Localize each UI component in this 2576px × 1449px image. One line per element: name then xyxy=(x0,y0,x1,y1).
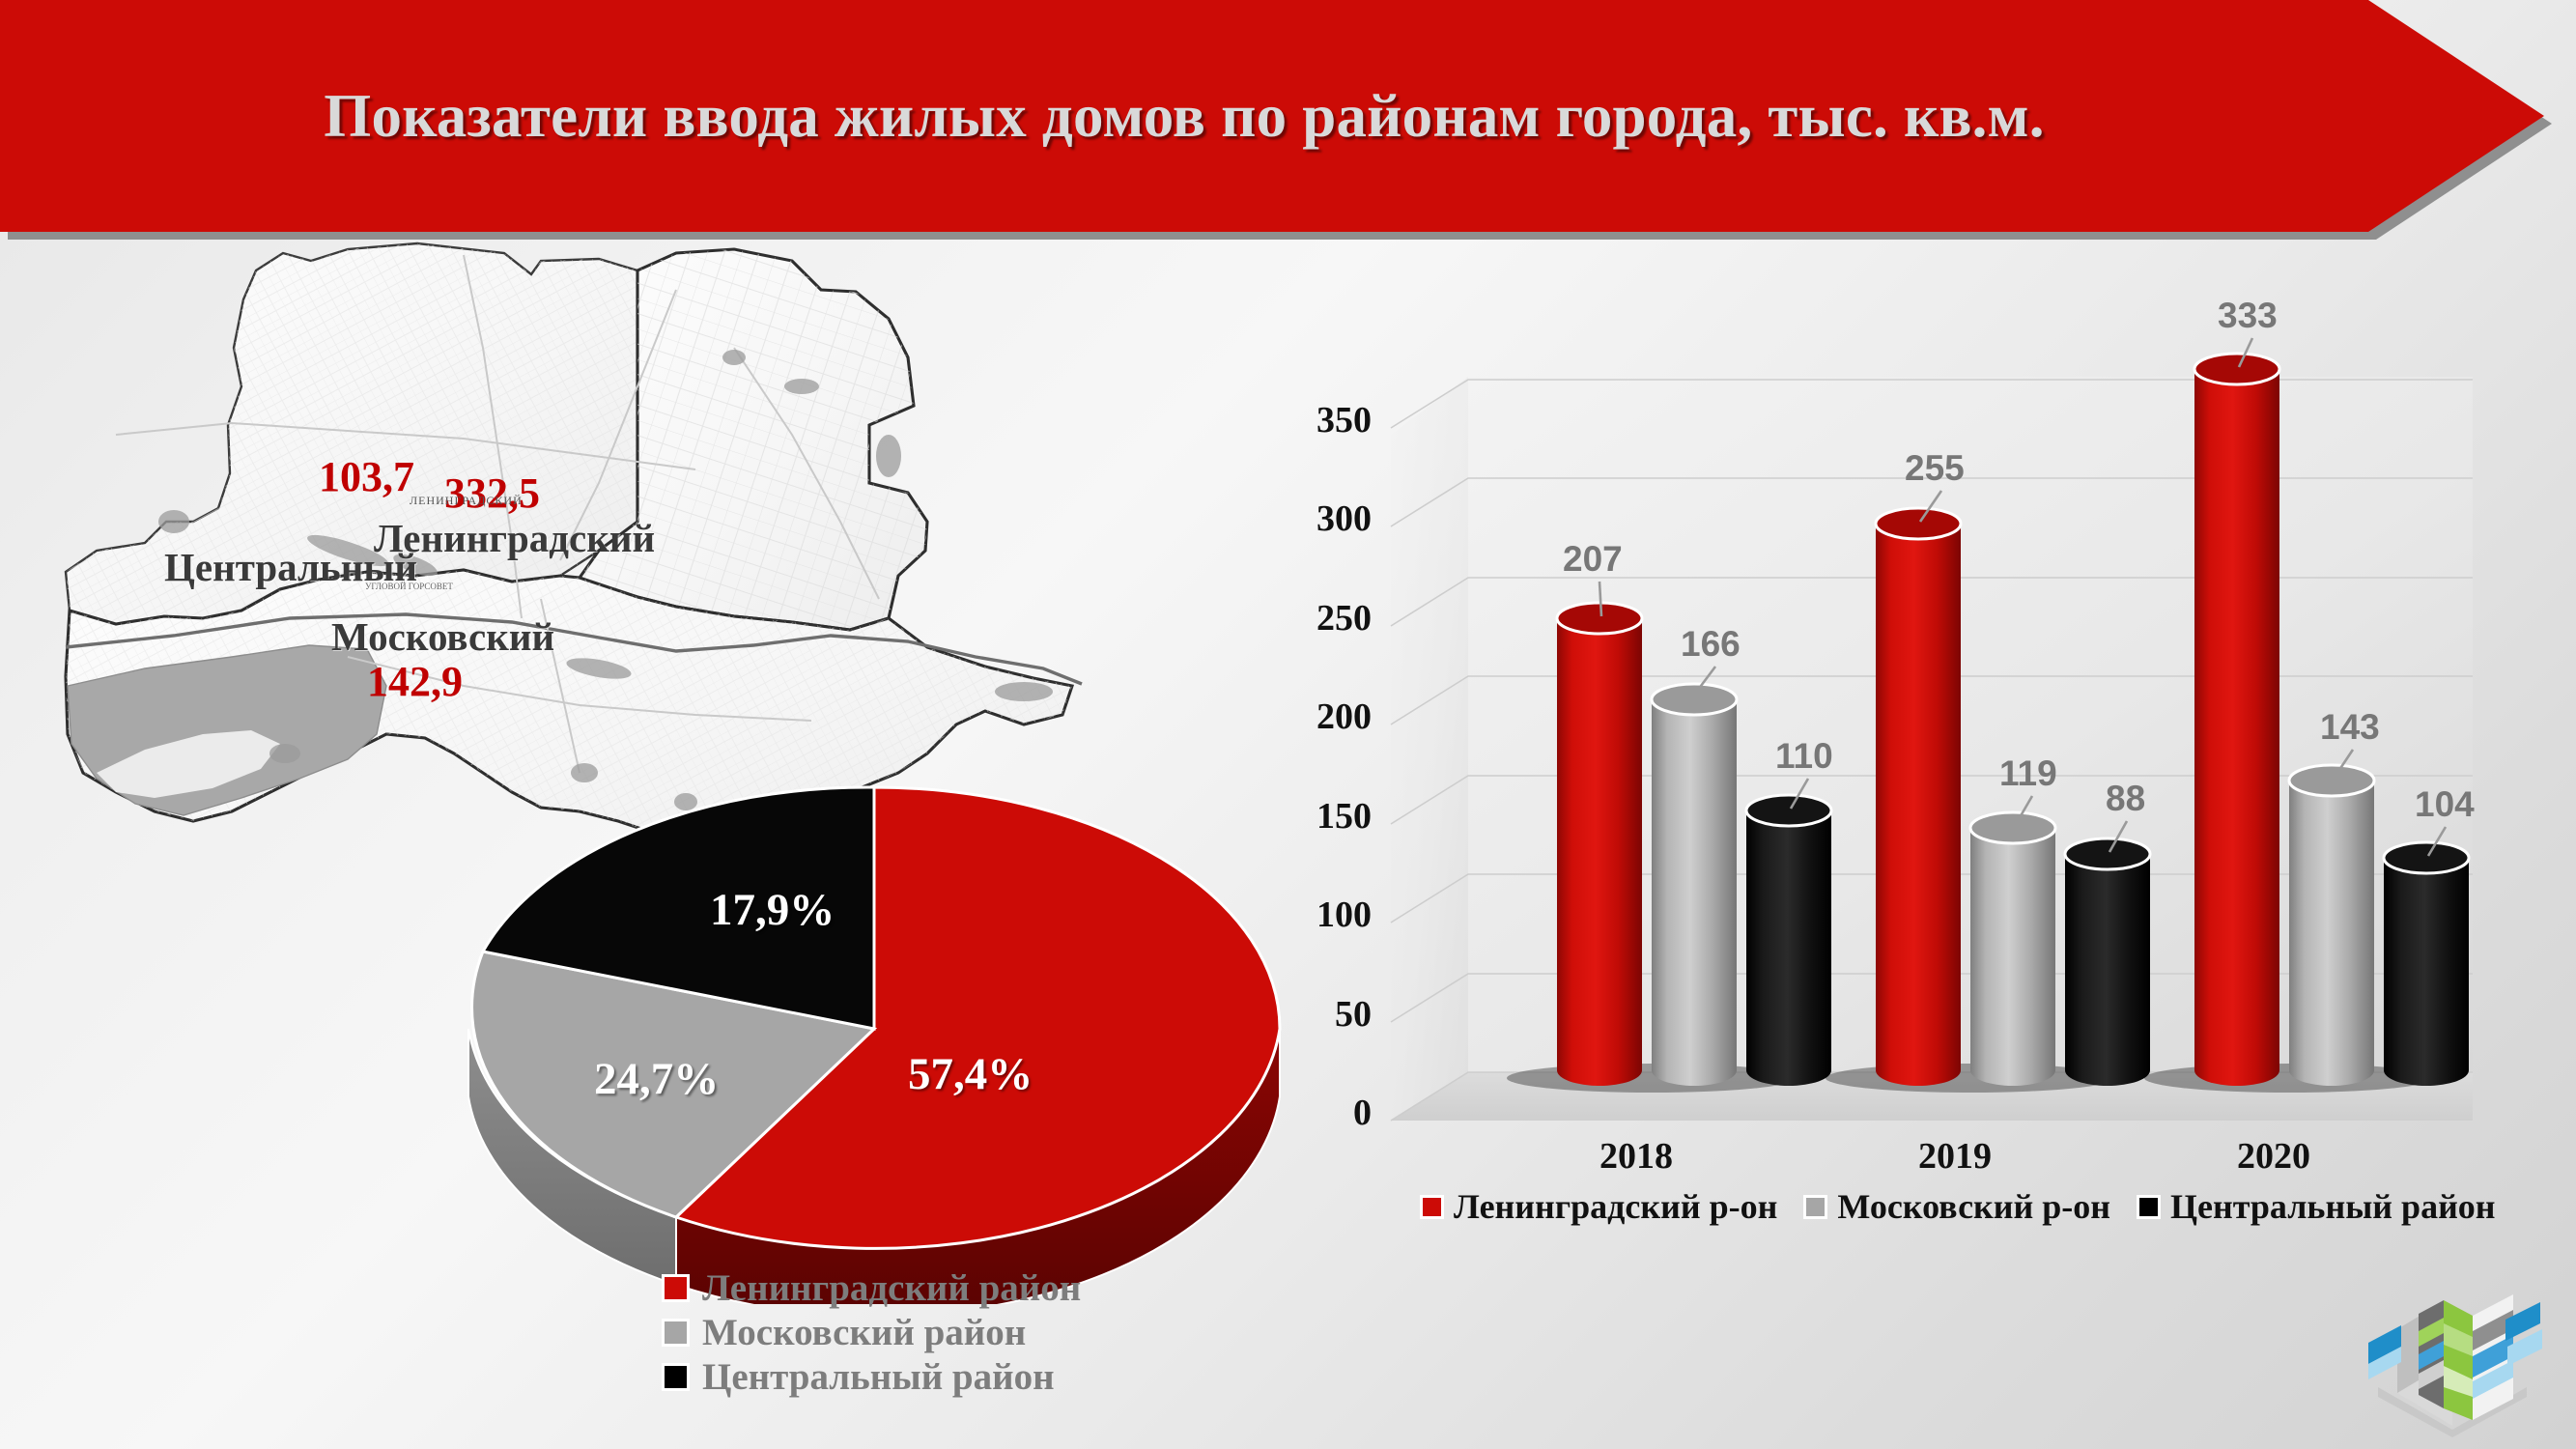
bar-2020-moskovsky xyxy=(2289,765,2374,1086)
pie-chart: 57,4% 24,7% 17,9% Ленинградский район Мо… xyxy=(425,782,1323,1449)
map-value-moskovsky: 142,9 xyxy=(367,657,463,706)
bar-xtick-2019: 2019 xyxy=(1918,1135,1992,1178)
bar-ytick-150: 150 xyxy=(1256,795,1372,838)
bar-value-2019-leningradsky: 255 xyxy=(1905,448,1965,489)
bar-legend-label-moskovsky: Московский р-он xyxy=(1837,1186,2110,1227)
bar-2020-leningradsky xyxy=(2194,354,2279,1086)
map-micro-label-leningradsky: ЛЕНИНГРАДСКИЙ xyxy=(410,494,523,508)
bar-legend-item-leningradsky[interactable]: Ленинградский р-он xyxy=(1420,1186,1777,1227)
bar-chart-legend: Ленинградский р-он Московский р-он Центр… xyxy=(1420,1186,2496,1227)
bar-legend-swatch-leningradsky xyxy=(1420,1195,1444,1219)
bar-value-2020-moskovsky: 143 xyxy=(2320,707,2380,748)
bar-ytick-200: 200 xyxy=(1256,696,1372,738)
pie-legend-swatch-central xyxy=(662,1363,690,1391)
pie-legend-item-moskovsky[interactable]: Московский район xyxy=(662,1310,1081,1354)
pie-legend-label-central: Центральный район xyxy=(702,1355,1055,1399)
bar-legend-item-moskovsky[interactable]: Московский р-он xyxy=(1803,1186,2110,1227)
map-value-central: 103,7 xyxy=(319,452,414,501)
bar-legend-item-central[interactable]: Центральный район xyxy=(2137,1186,2496,1227)
bar-value-2020-leningradsky: 333 xyxy=(2218,296,2278,336)
bar-2019-moskovsky xyxy=(1970,812,2055,1086)
pie-legend-swatch-leningradsky xyxy=(662,1274,690,1302)
bar-ytick-50: 50 xyxy=(1256,993,1372,1036)
bar-ytick-0: 0 xyxy=(1256,1092,1372,1134)
bar-ytick-350: 350 xyxy=(1256,399,1372,441)
bar-2018-central xyxy=(1746,795,1831,1086)
bar-chart: 0 50 100 150 200 250 300 350 2018 2019 2… xyxy=(1333,319,2492,1275)
bar-2018-moskovsky xyxy=(1652,684,1737,1086)
bar-xtick-2018: 2018 xyxy=(1599,1135,1673,1178)
pie-legend-swatch-moskovsky xyxy=(662,1319,690,1347)
bar-value-2018-moskovsky: 166 xyxy=(1681,624,1741,665)
bar-value-2018-leningradsky: 207 xyxy=(1563,539,1623,580)
header-banner: Показатели ввода жилых домов по районам … xyxy=(0,0,2552,232)
bar-legend-swatch-moskovsky xyxy=(1803,1195,1827,1219)
pie-legend: Ленинградский район Московский район Цен… xyxy=(662,1265,1081,1399)
bar-2018-leningradsky xyxy=(1557,603,1642,1086)
bar-xtick-2020: 2020 xyxy=(2237,1135,2310,1178)
page-title: Показатели ввода жилых домов по районам … xyxy=(0,0,2368,232)
bar-legend-label-leningradsky: Ленинградский р-он xyxy=(1454,1186,1777,1227)
pie-label-central: 17,9% xyxy=(710,884,835,936)
bar-legend-label-central: Центральный район xyxy=(2170,1186,2496,1227)
pie-legend-label-moskovsky: Московский район xyxy=(702,1311,1026,1354)
bar-value-2019-central: 88 xyxy=(2106,779,2145,819)
bar-legend-swatch-central xyxy=(2137,1195,2161,1219)
map-micro-label-gorsovet: УГЛОВОЙ ГОРСОВЕТ xyxy=(365,582,453,591)
bar-2020-central xyxy=(2384,842,2469,1086)
pie-label-moskovsky: 24,7% xyxy=(594,1053,719,1105)
pie-legend-item-leningradsky[interactable]: Ленинградский район xyxy=(662,1265,1081,1310)
pie-chart-graphic xyxy=(425,782,1323,1304)
pie-legend-item-central[interactable]: Центральный район xyxy=(662,1354,1081,1399)
bar-2019-leningradsky xyxy=(1876,508,1961,1086)
map-label-leningradsky: Ленинградский xyxy=(374,515,655,561)
bar-2019-central xyxy=(2065,838,2150,1086)
building-logo xyxy=(2361,1273,2544,1437)
bar-value-2018-central: 110 xyxy=(1775,736,1833,777)
bar-value-2020-central: 104 xyxy=(2415,784,2475,825)
bar-value-2019-moskovsky: 119 xyxy=(1999,753,2057,794)
pie-legend-label-leningradsky: Ленинградский район xyxy=(702,1266,1081,1310)
map-label-moskovsky: Московский xyxy=(331,613,554,660)
bar-ytick-300: 300 xyxy=(1256,497,1372,540)
bar-ytick-100: 100 xyxy=(1256,894,1372,936)
pie-label-leningradsky: 57,4% xyxy=(908,1048,1033,1100)
bar-ytick-250: 250 xyxy=(1256,597,1372,639)
